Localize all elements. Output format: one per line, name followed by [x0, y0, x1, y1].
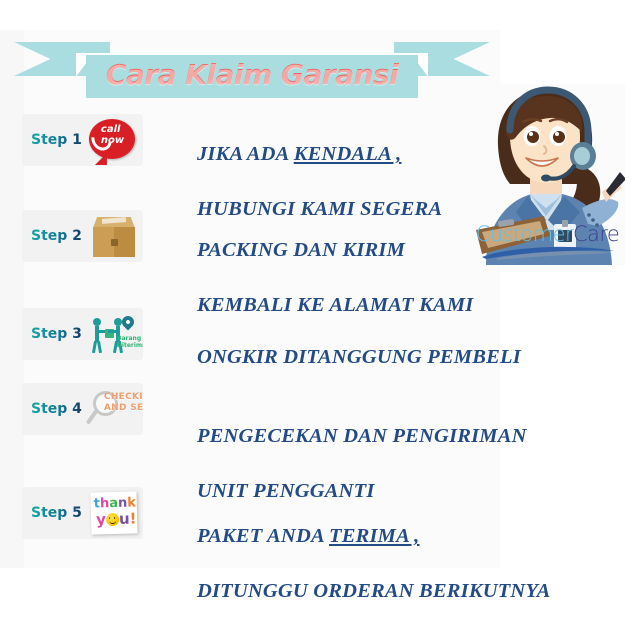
magnifier-checking-icon: CHECKING AND SEND — [87, 386, 141, 432]
customer-care-word-b: Care — [573, 222, 619, 246]
call-now-icon-line1: call — [101, 124, 121, 135]
customer-care-wordmark: CustomerCare — [472, 222, 623, 246]
step-text-3-line1: ONGKIR DITANGGUNG PEMBELI — [197, 346, 521, 368]
thanks-letter-n: n — [118, 496, 128, 511]
banner-ribbon: Cara Klaim Garansi — [14, 34, 490, 96]
you-letter-exclaim: ! — [129, 509, 136, 527]
step-text-5: PAKET ANDA TERIMA , DITUNGGU ORDERAN BER… — [165, 496, 551, 632]
step-text-5-line1-underlined: TERIMA , — [329, 525, 419, 547]
people-icon-caption-line2: Diterima — [117, 342, 143, 349]
step-badge-label-1: Step 1 — [31, 132, 82, 148]
you-letter-y: y — [96, 510, 106, 528]
checking-icon-line1: CHECKING — [104, 392, 143, 402]
step-badge-2: Step 2 — [22, 210, 143, 262]
step-badge-label-3: Step 3 — [31, 326, 82, 342]
customer-care-swoosh-icon — [480, 244, 616, 260]
step-badge-4: Step 4 CHECKING AND SEND — [22, 383, 143, 435]
thanks-letter-k: k — [127, 495, 136, 510]
page-title: Cara Klaim Garansi — [86, 53, 418, 96]
step-badge-5: Step 5 thank yu! — [22, 487, 143, 539]
step-badge-label-2: Step 2 — [31, 228, 82, 244]
step-badge-label-5: Step 5 — [31, 505, 82, 521]
step-row-5: Step 5 thank yu! PAKET ANDA TERIMA , DIT… — [22, 487, 551, 632]
people-handover-icon: Barang Diterima — [87, 311, 141, 357]
people-icon-caption-line1: Barang — [117, 335, 141, 342]
step-text-4-line1: PENGECEKAN DAN PENGIRIMAN — [197, 425, 527, 447]
cardboard-box-icon — [87, 213, 141, 259]
warranty-claim-infographic: Cara Klaim Garansi Step 1 call now JIKA … — [0, 0, 637, 637]
step-text-2-line1: PACKING DAN KIRIM — [197, 239, 405, 261]
step-badge-3: Step 3 Barang Dit — [22, 308, 143, 360]
call-now-icon: call now — [87, 117, 141, 163]
step-badge-label-4: Step 4 — [31, 401, 82, 417]
call-now-icon-line2: now — [101, 135, 124, 146]
step-text-5-line1-plain: PAKET ANDA — [197, 525, 329, 547]
customer-care-word-a: Customer — [476, 222, 573, 246]
step-text-5-line2: DITUNGGU ORDERAN BERIKUTNYA — [197, 580, 551, 602]
step-text-1-line1-underlined: KENDALA , — [294, 143, 402, 165]
customer-care-illustration: CustomerCare — [470, 84, 625, 265]
background-panel-left-strip — [0, 30, 24, 568]
step-badge-1: Step 1 call now — [22, 114, 143, 166]
checking-icon-line2: AND SEND — [104, 403, 143, 413]
thank-you-card-icon: thank yu! — [87, 490, 141, 536]
smiley-face-icon — [106, 513, 119, 526]
step-text-1-line1-plain: JIKA ADA — [197, 143, 294, 165]
